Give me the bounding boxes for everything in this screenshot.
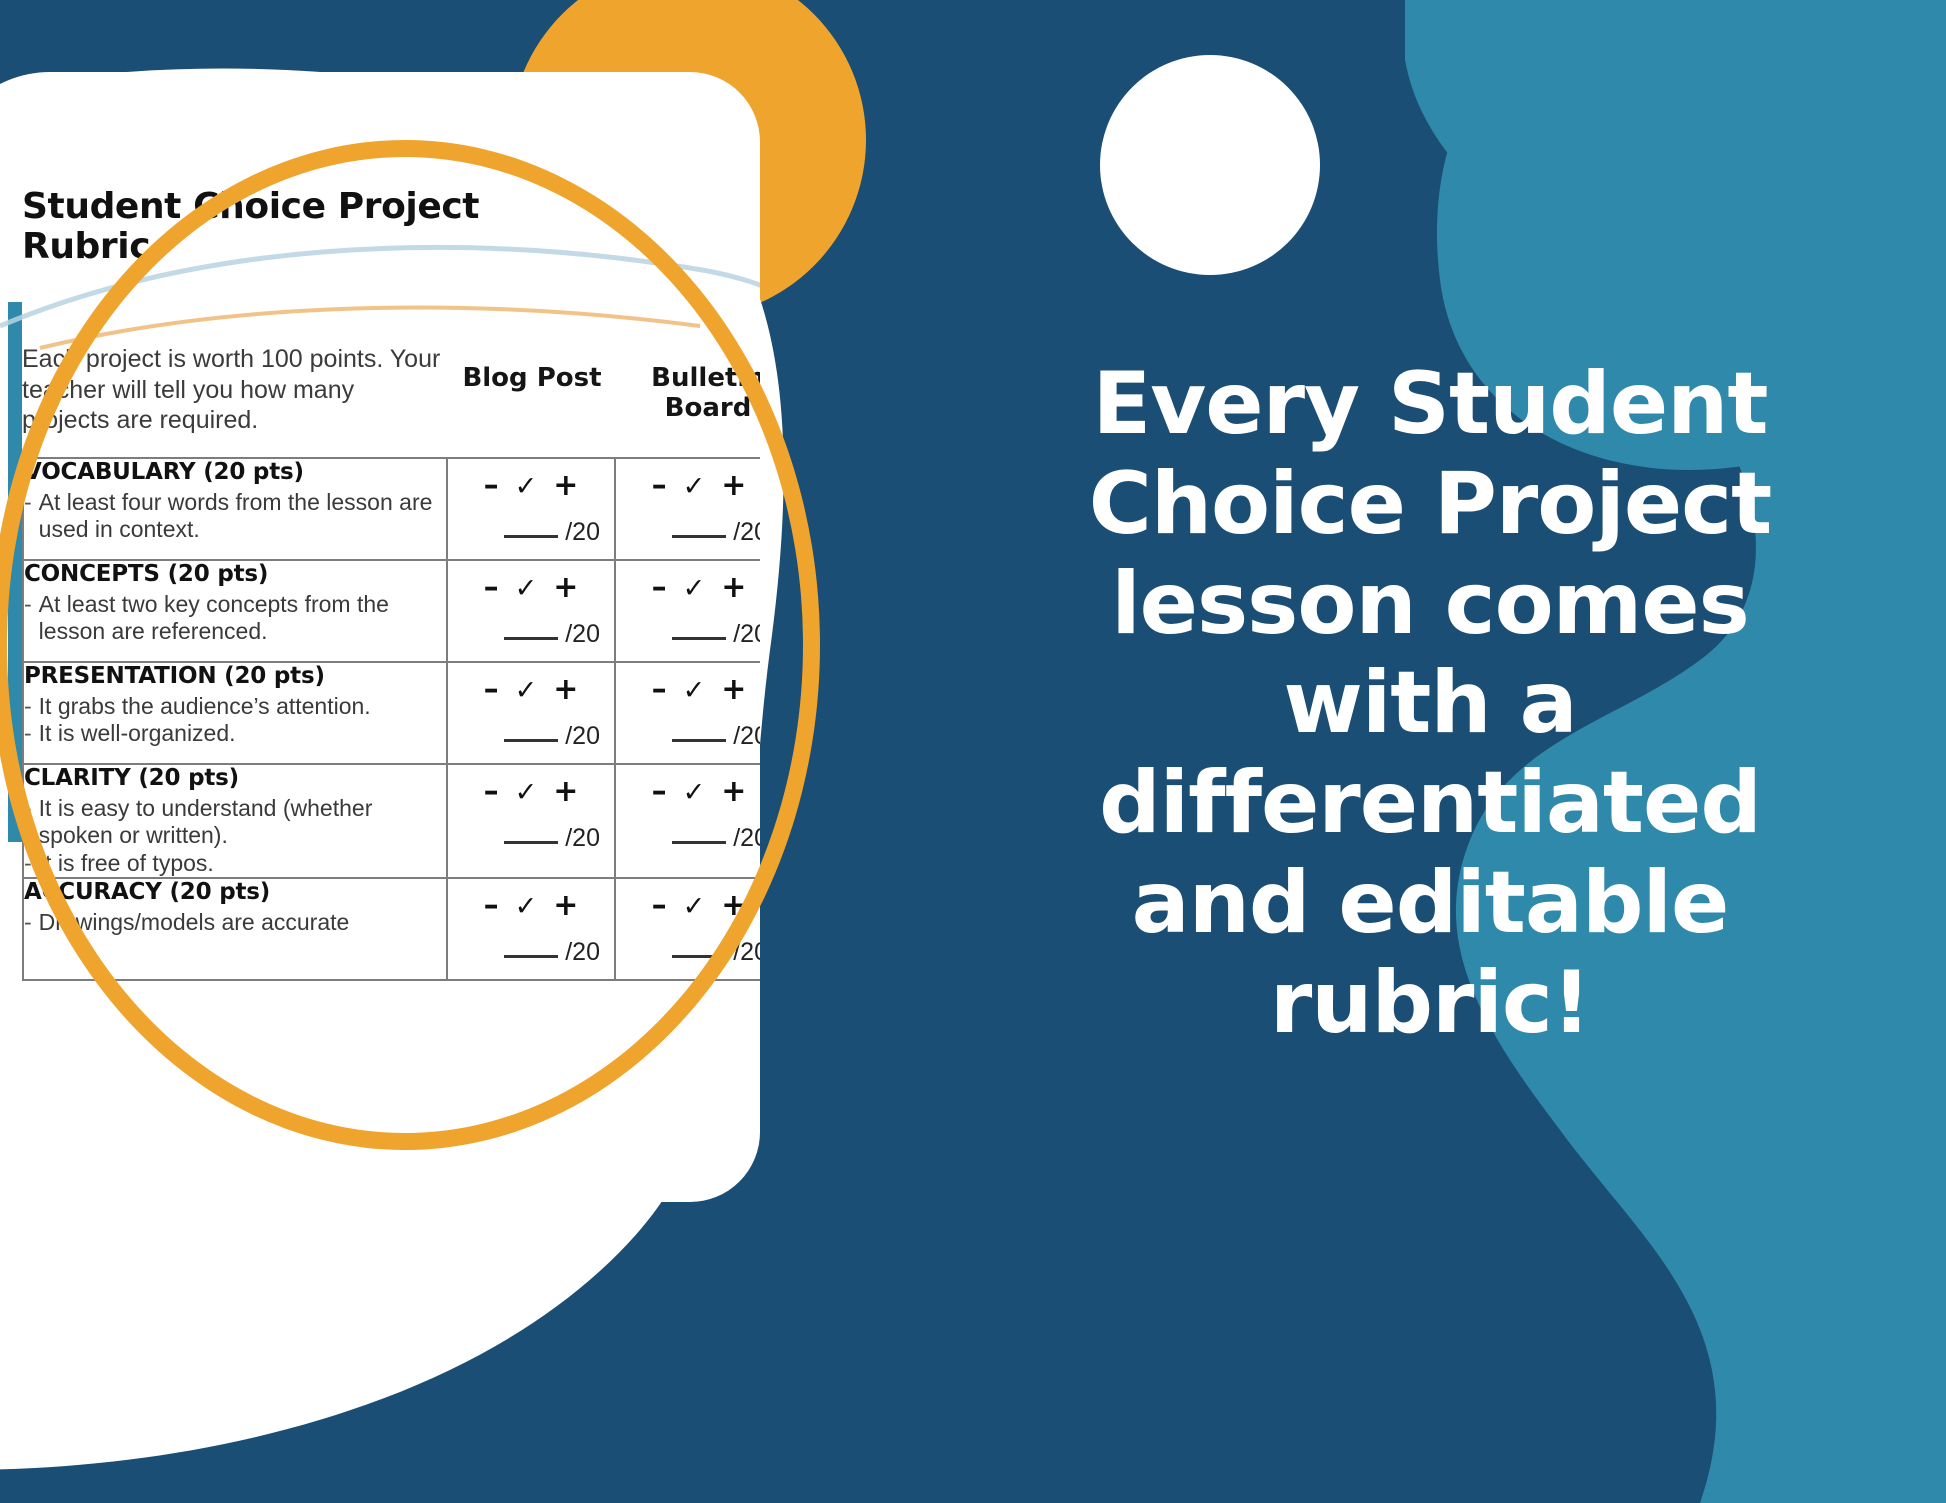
table-row: CONCEPTS (20 pts) - At least two key con… [23,560,760,662]
check-mark-icon[interactable]: ✓ [683,677,706,704]
check-mark-icon[interactable]: ✓ [515,893,538,920]
plus-mark-icon[interactable]: + [721,777,746,807]
score-marks[interactable]: – ✓ + [448,467,614,501]
plus-mark-icon[interactable]: + [721,471,746,501]
criterion-bullet: - Drawings/models are accurate [24,909,446,937]
rubric-table: VOCABULARY (20 pts) - At least four word… [22,457,760,981]
criterion-bullet: - It is easy to understand (whether spok… [24,795,446,850]
score-marks[interactable]: – ✓ + [616,773,760,807]
criterion-cell: CONCEPTS (20 pts) - At least two key con… [23,560,447,662]
bullet-dash-icon: - [24,850,32,878]
points-suffix: /20 [565,722,600,750]
points-suffix: /20 [565,518,600,546]
points-blank[interactable] [504,739,558,742]
plus-mark-icon[interactable]: + [721,891,746,921]
points-field[interactable]: /20 [616,518,760,549]
score-cell-bulletin-board[interactable]: – ✓ + /20 [615,458,760,560]
score-marks[interactable]: – ✓ + [448,671,614,705]
score-marks[interactable]: – ✓ + [616,569,760,603]
criterion-bullet-text: It grabs the audience’s attention. [39,693,446,721]
minus-mark-icon[interactable]: – [484,891,499,921]
bullet-dash-icon: - [24,795,32,850]
page-accent-strip [8,302,22,842]
headline-line-1: Every Student [930,355,1930,455]
score-marks[interactable]: – ✓ + [448,773,614,807]
headline-line-4: with a [930,654,1930,754]
plus-mark-icon[interactable]: + [721,573,746,603]
plus-mark-icon[interactable]: + [553,777,578,807]
minus-mark-icon[interactable]: – [652,675,667,705]
score-marks[interactable]: – ✓ + [616,887,760,921]
promotional-graphic: Student Choice Project Rubric Each proje… [0,0,1946,1503]
criterion-bullet-text: It is free of typos. [39,850,446,878]
points-suffix: /20 [733,518,760,546]
minus-mark-icon[interactable]: – [484,777,499,807]
bullet-dash-icon: - [24,489,32,544]
headline-line-6: and editable [930,854,1930,954]
minus-mark-icon[interactable]: – [484,675,499,705]
check-mark-icon[interactable]: ✓ [515,677,538,704]
minus-mark-icon[interactable]: – [652,573,667,603]
criterion-bullet-text: Drawings/models are accurate [39,909,446,937]
score-cell-blog-post[interactable]: – ✓ + /20 [447,662,615,764]
document-intro: Each project is worth 100 points. Your t… [22,344,442,436]
score-cell-bulletin-board[interactable]: – ✓ + /20 [615,560,760,662]
criterion-title: ACCURACY (20 pts) [24,879,446,907]
criterion-cell: ACCURACY (20 pts) - Drawings/models are … [23,878,447,980]
criterion-bullet: - At least two key concepts from the les… [24,591,446,646]
criterion-bullet-text: At least two key concepts from the lesso… [39,591,446,646]
points-field[interactable]: /20 [616,938,760,969]
table-row: VOCABULARY (20 pts) - At least four word… [23,458,760,560]
check-mark-icon[interactable]: ✓ [683,575,706,602]
plus-mark-icon[interactable]: + [553,675,578,705]
column-header-blog-post: Blog Post [444,364,620,394]
check-mark-icon[interactable]: ✓ [515,575,538,602]
table-row: CLARITY (20 pts) - It is easy to underst… [23,764,760,878]
plus-mark-icon[interactable]: + [721,675,746,705]
criterion-cell: PRESENTATION (20 pts) - It grabs the aud… [23,662,447,764]
score-cell-blog-post[interactable]: – ✓ + /20 [447,764,615,878]
points-field[interactable]: /20 [448,620,614,651]
points-blank[interactable] [504,637,558,640]
check-mark-icon[interactable]: ✓ [683,473,706,500]
headline: Every Student Choice Project lesson come… [930,355,1930,1053]
points-blank[interactable] [672,637,726,640]
points-suffix: /20 [733,938,760,966]
check-mark-icon[interactable]: ✓ [515,473,538,500]
minus-mark-icon[interactable]: – [484,471,499,501]
score-marks[interactable]: – ✓ + [616,467,760,501]
criterion-title: VOCABULARY (20 pts) [24,459,446,487]
rubric-document-card: Student Choice Project Rubric Each proje… [0,72,760,1202]
bullet-dash-icon: - [24,909,32,937]
plus-mark-icon[interactable]: + [553,573,578,603]
headline-line-5: differentiated [930,754,1930,854]
minus-mark-icon[interactable]: – [484,573,499,603]
points-blank[interactable] [672,955,726,958]
score-cell-bulletin-board[interactable]: – ✓ + /20 [615,662,760,764]
points-blank[interactable] [504,955,558,958]
criterion-bullet-text: It is well-organized. [39,720,446,748]
points-blank[interactable] [504,535,558,538]
points-blank[interactable] [672,841,726,844]
table-row: ACCURACY (20 pts) - Drawings/models are … [23,878,760,980]
minus-mark-icon[interactable]: – [652,471,667,501]
criterion-bullet-text: It is easy to understand (whether spoken… [39,795,446,850]
points-field[interactable]: /20 [448,938,614,969]
points-suffix: /20 [733,722,760,750]
criterion-title: CLARITY (20 pts) [24,765,446,793]
document-title: Student Choice Project Rubric [22,187,542,268]
points-field[interactable]: /20 [616,620,760,651]
score-cell-blog-post[interactable]: – ✓ + /20 [447,458,615,560]
criterion-bullet: - It is free of typos. [24,850,446,878]
score-marks[interactable]: – ✓ + [616,671,760,705]
points-field[interactable]: /20 [616,824,760,855]
points-blank[interactable] [672,535,726,538]
score-cell-blog-post[interactable]: – ✓ + /20 [447,560,615,662]
headline-line-3: lesson comes [930,555,1930,655]
points-field[interactable]: /20 [448,722,614,753]
points-suffix: /20 [733,824,760,852]
criterion-bullet: - It is well-organized. [24,720,446,748]
points-field[interactable]: /20 [616,722,760,753]
score-marks[interactable]: – ✓ + [448,887,614,921]
bullet-dash-icon: - [24,720,32,748]
headline-line-7: rubric! [930,954,1930,1054]
score-cell-bulletin-board[interactable]: – ✓ + /20 [615,764,760,878]
points-suffix: /20 [733,620,760,648]
points-suffix: /20 [565,620,600,648]
column-header-bulletin-board: Bulletin Board [620,364,760,424]
criterion-cell: VOCABULARY (20 pts) - At least four word… [23,458,447,560]
minus-mark-icon[interactable]: – [652,777,667,807]
check-mark-icon[interactable]: ✓ [683,779,706,806]
criterion-title: PRESENTATION (20 pts) [24,663,446,691]
score-cell-bulletin-board[interactable]: – ✓ + /20 [615,878,760,980]
criterion-bullet: - It grabs the audience’s attention. [24,693,446,721]
points-field[interactable]: /20 [448,518,614,549]
headline-line-2: Choice Project [930,455,1930,555]
plus-mark-icon[interactable]: + [553,891,578,921]
check-mark-icon[interactable]: ✓ [683,893,706,920]
points-suffix: /20 [565,824,600,852]
criterion-title: CONCEPTS (20 pts) [24,561,446,589]
points-suffix: /20 [565,938,600,966]
criterion-bullet: - At least four words from the lesson ar… [24,489,446,544]
criterion-cell: CLARITY (20 pts) - It is easy to underst… [23,764,447,878]
plus-mark-icon[interactable]: + [553,471,578,501]
points-field[interactable]: /20 [448,824,614,855]
criterion-bullet-text: At least four words from the lesson are … [39,489,446,544]
rubric-table-body: VOCABULARY (20 pts) - At least four word… [23,458,760,980]
minus-mark-icon[interactable]: – [652,891,667,921]
white-circle [1100,55,1320,275]
score-marks[interactable]: – ✓ + [448,569,614,603]
score-cell-blog-post[interactable]: – ✓ + /20 [447,878,615,980]
table-row: PRESENTATION (20 pts) - It grabs the aud… [23,662,760,764]
bullet-dash-icon: - [24,693,32,721]
points-blank[interactable] [504,841,558,844]
check-mark-icon[interactable]: ✓ [515,779,538,806]
points-blank[interactable] [672,739,726,742]
bullet-dash-icon: - [24,591,32,646]
